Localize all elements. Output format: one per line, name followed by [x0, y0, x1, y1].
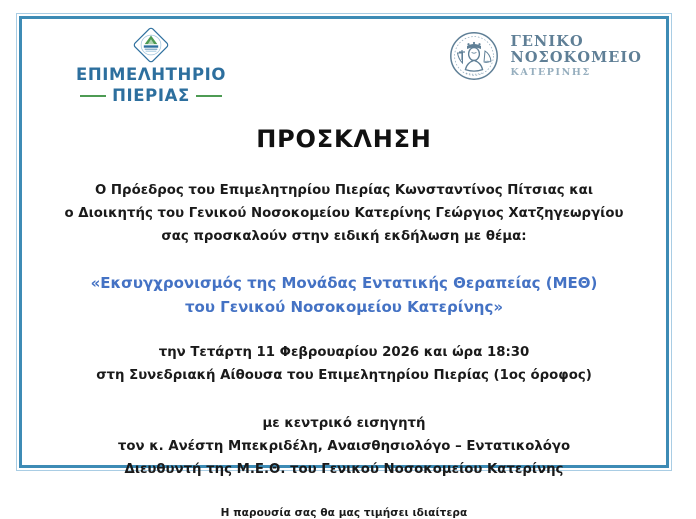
intro-line-2: ο Διοικητής του Γενικού Νοσοκομείου Κατε…	[22, 203, 666, 226]
event-venue: στη Συνεδριακή Αίθουσα του Επιμελητηρίου…	[22, 365, 666, 388]
topic-line-1: «Εκσυγχρονισμός της Μονάδας Εντατικής Θε…	[22, 271, 666, 295]
hospital-logo-text: ΓΕΝΙΚΟ ΝΟΣΟΚΟΜΕΙΟ ΚΑΤΕΡΙΝΗΣ	[510, 34, 642, 78]
event-datetime-venue: την Τετάρτη 11 Φεβρουαρίου 2026 και ώρα …	[22, 342, 666, 388]
chamber-logo-name: ΕΠΙΜΕΛΗΤΗΡΙΟ	[56, 66, 246, 84]
chamber-logo-region-row: ΠΙΕΡΙΑΣ	[56, 86, 246, 105]
event-datetime: την Τετάρτη 11 Φεβρουαρίου 2026 και ώρα …	[22, 342, 666, 365]
chamber-dash-left-icon	[80, 95, 106, 97]
speaker-role: Διευθυντή της Μ.Ε.Θ. του Γενικού Νοσοκομ…	[22, 459, 666, 482]
hospital-logo-line1: ΓΕΝΙΚΟ	[510, 34, 642, 50]
page-title: ΠΡΟΣΚΛΗΣΗ	[22, 125, 666, 153]
chamber-of-commerce-logo: ΕΠΙΜΕΛΗΤΗΡΙΟ ΠΙΕΡΙΑΣ	[56, 27, 246, 105]
invitation-content: ΕΠΙΜΕΛΗΤΗΡΙΟ ΠΙΕΡΙΑΣ	[22, 19, 666, 465]
intro-line-1: Ο Πρόεδρος του Επιμελητηρίου Πιερίας Κων…	[22, 180, 666, 203]
document-header: ΕΠΙΜΕΛΗΤΗΡΙΟ ΠΙΕΡΙΑΣ	[22, 19, 666, 107]
hospital-logo: ΓΕΝΙΚΟ ΝΟΣΟΚΟΜΕΙΟ ΚΑΤΕΡΙΝΗΣ	[449, 31, 642, 81]
closing-note: Η παρουσία σας θα μας τιμήσει ιδιαίτερα	[22, 507, 666, 519]
hospital-logo-line3: ΚΑΤΕΡΙΝΗΣ	[510, 68, 642, 78]
intro-line-3: σας προσκαλούν στην ειδική εκδήλωση με θ…	[22, 226, 666, 249]
chamber-dash-right-icon	[196, 95, 222, 97]
topic-line-2: του Γενικού Νοσοκομείου Κατερίνης»	[22, 295, 666, 319]
speaker-label: με κεντρικό εισηγητή	[22, 413, 666, 436]
olympus-mountain-diamond-icon	[133, 27, 169, 63]
speaker-name: τον κ. Ανέστη Μπεκριδέλη, Αναισθησιολόγο…	[22, 436, 666, 459]
invitation-intro: Ο Πρόεδρος του Επιμελητηρίου Πιερίας Κων…	[22, 180, 666, 249]
saint-catherine-crest-icon	[449, 31, 499, 81]
keynote-speaker: με κεντρικό εισηγητή τον κ. Ανέστη Μπεκρ…	[22, 413, 666, 482]
event-topic: «Εκσυγχρονισμός της Μονάδας Εντατικής Θε…	[22, 271, 666, 320]
invitation-page: ΕΠΙΜΕΛΗΤΗΡΙΟ ΠΙΕΡΙΑΣ	[0, 0, 696, 492]
chamber-logo-region: ΠΙΕΡΙΑΣ	[112, 86, 190, 105]
hospital-logo-line2: ΝΟΣΟΚΟΜΕΙΟ	[510, 50, 642, 66]
